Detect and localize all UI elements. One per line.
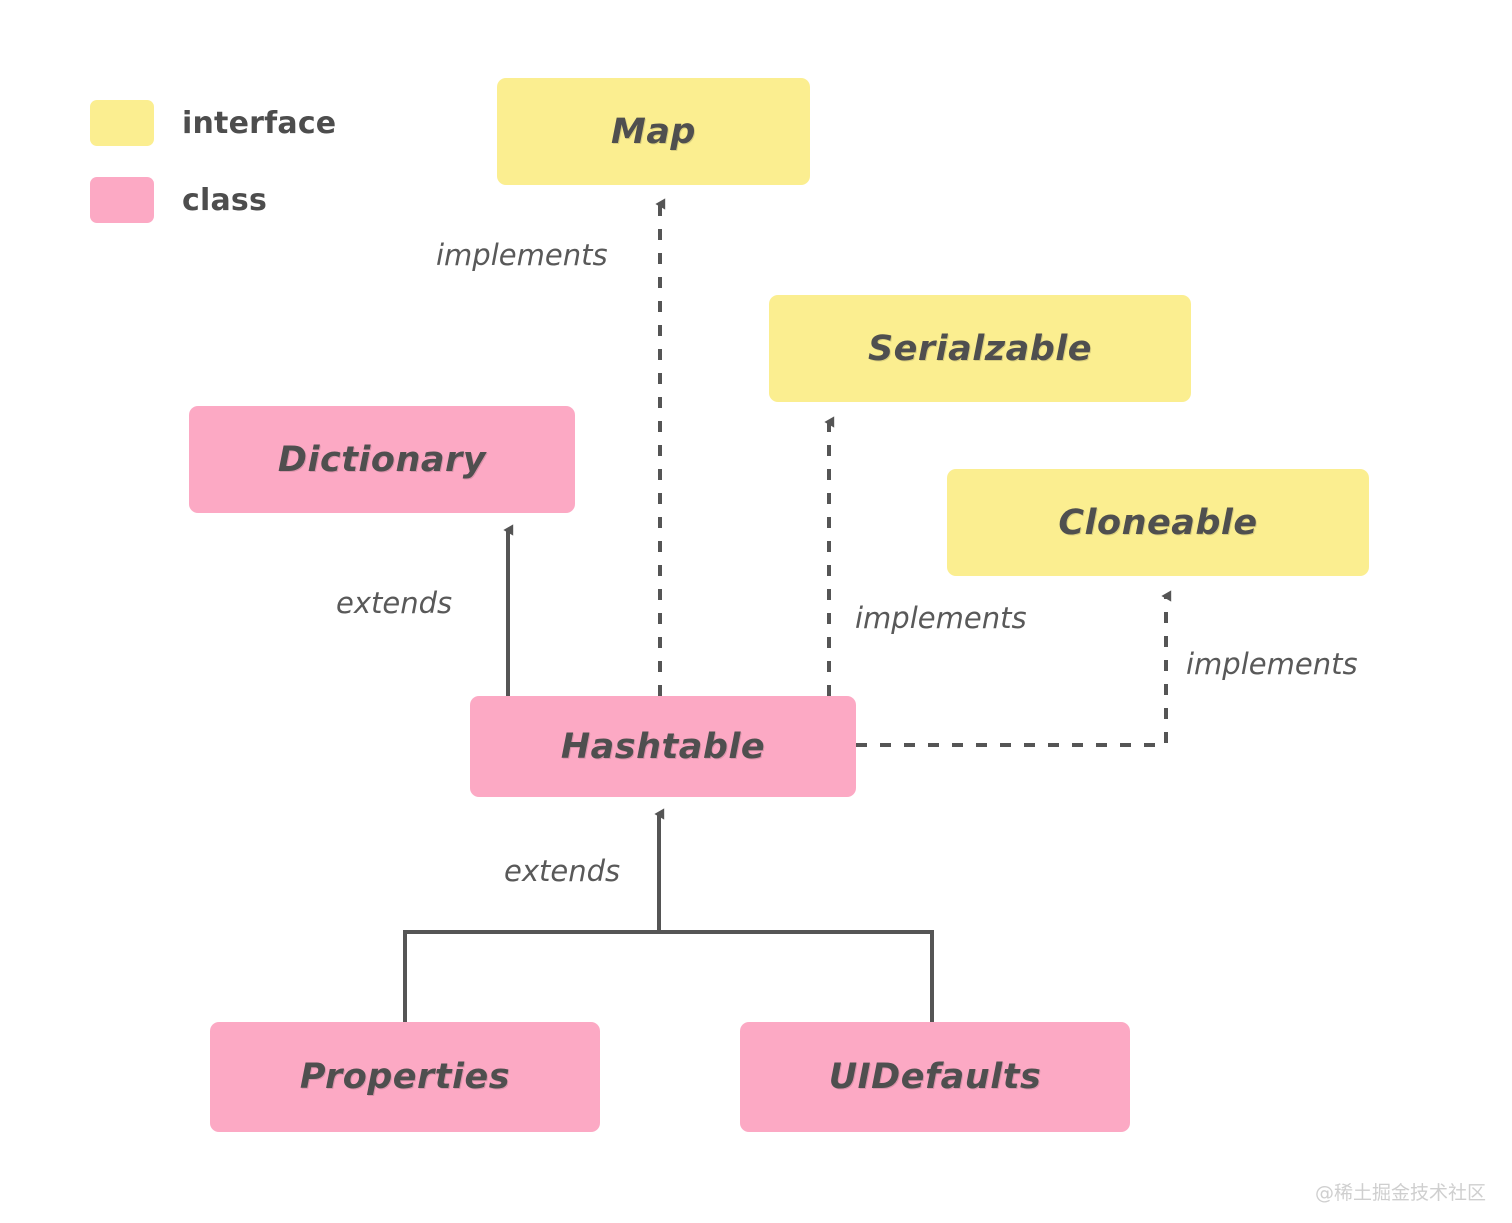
legend-swatch-class: [90, 177, 154, 223]
node-map[interactable]: Map: [497, 78, 810, 185]
legend-swatch-interface: [90, 100, 154, 146]
edge-subclasses-extends-hashtable: [405, 932, 932, 1022]
node-label-uidefaults: UIDefaults: [829, 1057, 1042, 1097]
edge-label-implements-map: implements: [436, 238, 608, 272]
node-label-cloneable: Cloneable: [1058, 503, 1257, 543]
watermark: @稀土掘金技术社区: [1315, 1178, 1486, 1205]
legend: interface class: [90, 100, 336, 254]
node-dictionary[interactable]: Dictionary: [189, 406, 575, 513]
node-uidefaults[interactable]: UIDefaults: [740, 1022, 1130, 1132]
edge-label-implements-serialzable: implements: [855, 601, 1027, 635]
edge-label-extends-dictionary: extends: [336, 586, 452, 620]
legend-item-class: class: [90, 177, 336, 223]
legend-item-interface: interface: [90, 100, 336, 146]
legend-label-interface: interface: [182, 106, 336, 141]
node-hashtable[interactable]: Hashtable: [470, 696, 856, 797]
edge-label-implements-cloneable: implements: [1186, 647, 1358, 681]
node-label-serialzable: Serialzable: [868, 329, 1092, 369]
node-label-properties: Properties: [300, 1057, 510, 1097]
node-label-map: Map: [611, 112, 696, 152]
node-properties[interactable]: Properties: [210, 1022, 600, 1132]
node-label-hashtable: Hashtable: [561, 727, 765, 767]
node-label-dictionary: Dictionary: [278, 440, 486, 480]
node-cloneable[interactable]: Cloneable: [947, 469, 1369, 576]
edge-label-extends-hashtable: extends: [504, 854, 620, 888]
node-serialzable[interactable]: Serialzable: [769, 295, 1191, 402]
legend-label-class: class: [182, 183, 267, 218]
diagram-canvas: interface class Map Serialzable Cloneabl…: [0, 0, 1512, 1223]
